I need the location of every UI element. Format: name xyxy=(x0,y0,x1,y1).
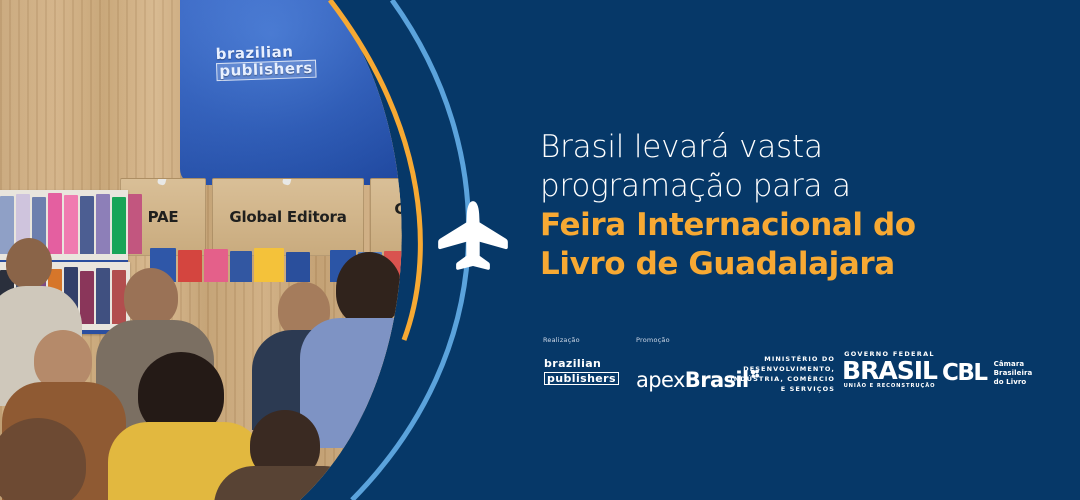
headline-line-2: programação para a xyxy=(540,167,1040,206)
book xyxy=(286,252,310,282)
ministry-line1: MINISTÉRIO DO xyxy=(730,354,835,364)
book xyxy=(178,250,202,282)
logo-ministry: MINISTÉRIO DO DESENVOLVIMENTO, INDÚSTRIA… xyxy=(730,354,835,394)
logo-cbl: CBL Câmara Brasileira do Livro xyxy=(942,360,1032,387)
ministry-line2: DESENVOLVIMENTO, xyxy=(730,364,835,374)
ministry-line3: INDÚSTRIA, COMÉRCIO xyxy=(730,374,835,384)
person xyxy=(124,268,178,326)
person xyxy=(336,252,402,326)
logo-brazilian-publishers: brazilian publishers xyxy=(544,358,619,387)
person xyxy=(34,330,92,390)
gov-main-label: BRASIL xyxy=(842,358,937,383)
logo-governo-federal: GOVERNO FEDERAL BRASIL UNIÃO E RECONSTRU… xyxy=(842,350,937,389)
book xyxy=(128,194,142,254)
book xyxy=(64,195,78,254)
ministry-line4: E SERVIÇOS xyxy=(730,384,835,394)
logo-strip: Realização Promoção brazilian publishers… xyxy=(540,336,1040,406)
book xyxy=(112,197,126,254)
headline: Brasil levará vasta programação para a F… xyxy=(540,128,1040,284)
apex-light: apex xyxy=(636,368,685,392)
booth-cedic-bom: CEDIC Bom xyxy=(370,178,468,256)
cbl-text: Câmara Brasileira do Livro xyxy=(994,360,1033,387)
booth-label: PAE xyxy=(148,210,179,225)
brazilian-publishers-backdrop: brazilian publishers xyxy=(180,0,440,185)
headline-line-1: Brasil levará vasta xyxy=(540,128,1040,167)
booth-signage-row: PAE Global Editora CEDIC Bom xyxy=(120,178,470,256)
person xyxy=(300,318,440,448)
booth-label: Global Editora xyxy=(229,210,346,225)
bp-logo-line1: brazilian xyxy=(544,358,619,369)
kicker-promocao: Promoção xyxy=(636,336,670,344)
book xyxy=(230,251,252,282)
lamp-icon xyxy=(157,178,169,186)
bp-logo-line2: publishers xyxy=(544,372,619,385)
cbl-line3: do Livro xyxy=(994,378,1033,387)
cbl-line1: Câmara xyxy=(994,360,1033,369)
booth-label: CEDIC Bom xyxy=(394,202,443,232)
headline-line-3: Feira Internacional do xyxy=(540,206,1040,245)
book xyxy=(254,248,284,282)
person xyxy=(214,466,364,500)
cbl-mark: CBL xyxy=(942,362,987,385)
gov-bottom-label: UNIÃO E RECONSTRUÇÃO xyxy=(842,383,937,389)
backdrop-logo-line2: publishers xyxy=(216,59,316,80)
headline-line-4: Livro de Guadalajara xyxy=(540,245,1040,284)
book xyxy=(80,271,94,324)
kicker-realizacao: Realização xyxy=(543,336,580,344)
book xyxy=(80,196,94,254)
booth-global-editora: Global Editora xyxy=(212,178,364,256)
lamp-icon xyxy=(413,178,425,186)
backdrop-logo: brazilian publishers xyxy=(215,43,340,81)
promotional-banner: brazilian publishers PAE Global Editora … xyxy=(0,0,1080,500)
cbl-line2: Brasileira xyxy=(994,369,1033,378)
book-row xyxy=(150,248,310,282)
book xyxy=(96,194,110,254)
lamp-icon xyxy=(282,178,294,186)
event-photo: brazilian publishers PAE Global Editora … xyxy=(0,0,470,500)
book xyxy=(48,193,62,254)
airplane-icon xyxy=(438,201,508,270)
person xyxy=(6,238,52,288)
book xyxy=(96,268,110,324)
book xyxy=(204,249,228,282)
